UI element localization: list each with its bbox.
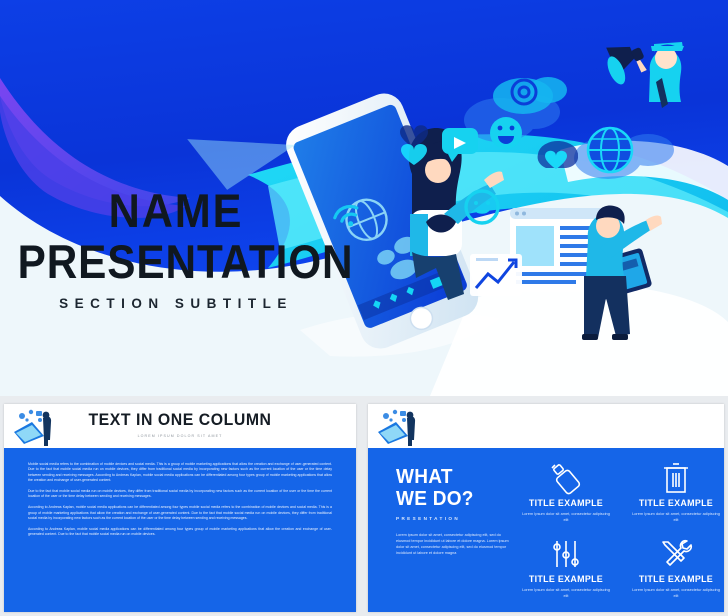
feature-card-2[interactable]: TITLE EXAMPLE Lorem Ipsum dolor sit amet… xyxy=(624,460,724,522)
left-panel-text-column: Mobile social media refers to the combin… xyxy=(28,462,332,543)
paragraph: According to Andreas Kaplan, mobile soci… xyxy=(28,505,332,521)
hero-title-presentation: PRESENTATION xyxy=(18,236,335,288)
left-panel-body: Mobile social media refers to the combin… xyxy=(4,448,356,612)
trash-bin-icon xyxy=(624,460,724,496)
feature-cards-grid: TITLE EXAMPLE Lorem Ipsum dolor sit amet… xyxy=(514,460,718,610)
slide-thumbnail-icon xyxy=(374,406,420,448)
left-panel-subtitle: LOREM IPSUM DOLOR SIT AMET xyxy=(4,434,356,438)
tools-icon xyxy=(624,536,724,572)
paragraph: Mobile social media refers to the combin… xyxy=(28,462,332,484)
sliders-icon xyxy=(514,536,618,572)
feature-card-3[interactable]: TITLE EXAMPLE Lorem Ipsum dolor sit amet… xyxy=(514,536,618,598)
feature-card-title: TITLE EXAMPLE xyxy=(627,574,724,585)
what-we-do-text-block: WHAT WE DO? PRESENTATION Lorem ipsum dol… xyxy=(396,466,512,556)
feature-card-desc: Lorem Ipsum dolor sit amet, consectetur … xyxy=(624,511,724,522)
what-we-do-intro: Lorem ipsum dolor sit amet, consectetur … xyxy=(396,532,512,556)
slide-what-we-do[interactable]: WHAT WE DO? PRESENTATION Lorem ipsum dol… xyxy=(368,404,724,612)
presentation-template-preview: NAME PRESENTATION SECTION SUBTITLE xyxy=(0,0,728,616)
what-we-do-heading-line1: WHAT xyxy=(396,466,506,488)
panel-separator xyxy=(360,404,368,612)
feature-card-title: TITLE EXAMPLE xyxy=(627,498,724,509)
paragraph: According to Andreas Kaplan, mobile soci… xyxy=(28,527,332,538)
paragraph: Due to the fact that mobile social media… xyxy=(28,489,332,500)
hero-title-block: NAME PRESENTATION SECTION SUBTITLE xyxy=(0,186,352,311)
hero-title-name: NAME xyxy=(14,186,338,236)
feature-card-4[interactable]: TITLE EXAMPLE Lorem Ipsum dolor sit amet… xyxy=(624,536,724,598)
feature-card-title: TITLE EXAMPLE xyxy=(517,574,615,585)
feature-card-desc: Lorem Ipsum dolor sit amet, consectetur … xyxy=(514,587,618,598)
right-panel-body: WHAT WE DO? PRESENTATION Lorem ipsum dol… xyxy=(368,448,724,612)
feature-card-1[interactable]: TITLE EXAMPLE Lorem Ipsum dolor sit amet… xyxy=(514,460,618,522)
feature-card-desc: Lorem Ipsum dolor sit amet, consectetur … xyxy=(514,511,618,522)
what-we-do-tagline: PRESENTATION xyxy=(396,516,512,521)
usb-flash-drive-icon xyxy=(514,460,618,496)
feature-card-desc: Lorem Ipsum dolor sit amet, consectetur … xyxy=(624,587,724,598)
left-panel-title: TEXT IN ONE COLUMN xyxy=(16,410,343,430)
left-panel-header: TEXT IN ONE COLUMN LOREM IPSUM DOLOR SIT… xyxy=(4,404,356,448)
what-we-do-heading-line2: WE DO? xyxy=(396,488,506,510)
right-panel-header xyxy=(368,404,724,448)
hero-slide[interactable]: NAME PRESENTATION SECTION SUBTITLE xyxy=(0,0,728,396)
hero-subtitle: SECTION SUBTITLE xyxy=(0,296,352,311)
feature-card-title: TITLE EXAMPLE xyxy=(517,498,615,509)
slide-text-in-one-column[interactable]: TEXT IN ONE COLUMN LOREM IPSUM DOLOR SIT… xyxy=(4,404,356,612)
